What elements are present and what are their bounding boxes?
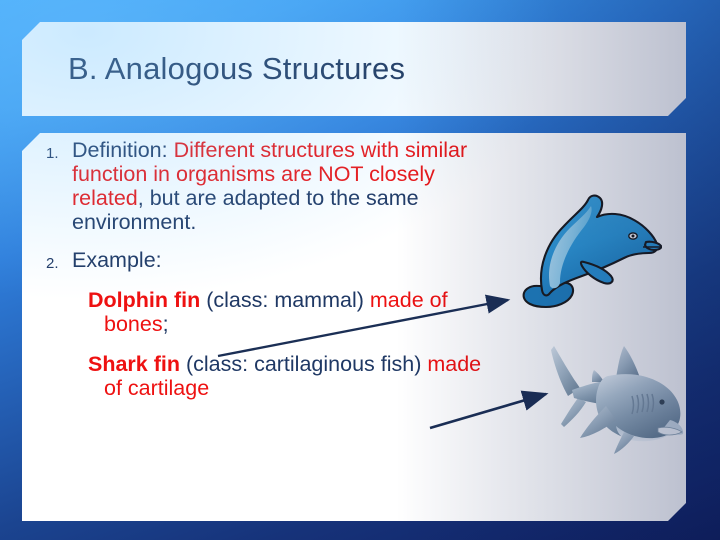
shark-dorsal-fin [616,346,640,378]
dolphin-snout [645,242,661,250]
dolphin-image [512,186,662,310]
title-card: B. Analogous Structures [22,22,686,116]
list-item: 1. Definition: Different structures with… [30,139,482,235]
shark-lower-tail-lobe [561,398,586,427]
list-item-text: Example: [72,249,482,273]
text-segment: Shark fin [88,352,180,376]
text-segment: ; [163,312,169,336]
dolphin-pupil [632,235,635,238]
shark-image [520,340,686,462]
list-marker: 2. [30,249,72,272]
shark-eye [659,399,664,404]
shark-upper-tail-lobe [551,346,580,396]
text-segment: (class: cartilaginous fish) [180,352,427,376]
shark-pelvic-fin [614,432,634,454]
example-shark: Shark fin (class: cartilaginous fish) ma… [88,353,482,401]
list-marker: 1. [30,139,72,162]
list-item: 2. Example: [30,249,482,273]
body-text-block: 1. Definition: Different structures with… [30,139,482,401]
text-segment: Example: [72,248,162,272]
text-segment: Definition: [72,138,174,162]
page-title: B. Analogous Structures [68,51,405,87]
text-segment: Dolphin fin [88,288,200,312]
list-item-text: Definition: Different structures with si… [72,139,482,235]
slide: B. Analogous Structures 1. Definition: D… [0,0,720,540]
text-segment: (class: mammal) [200,288,370,312]
example-dolphin: Dolphin fin (class: mammal) made of bone… [88,289,482,337]
